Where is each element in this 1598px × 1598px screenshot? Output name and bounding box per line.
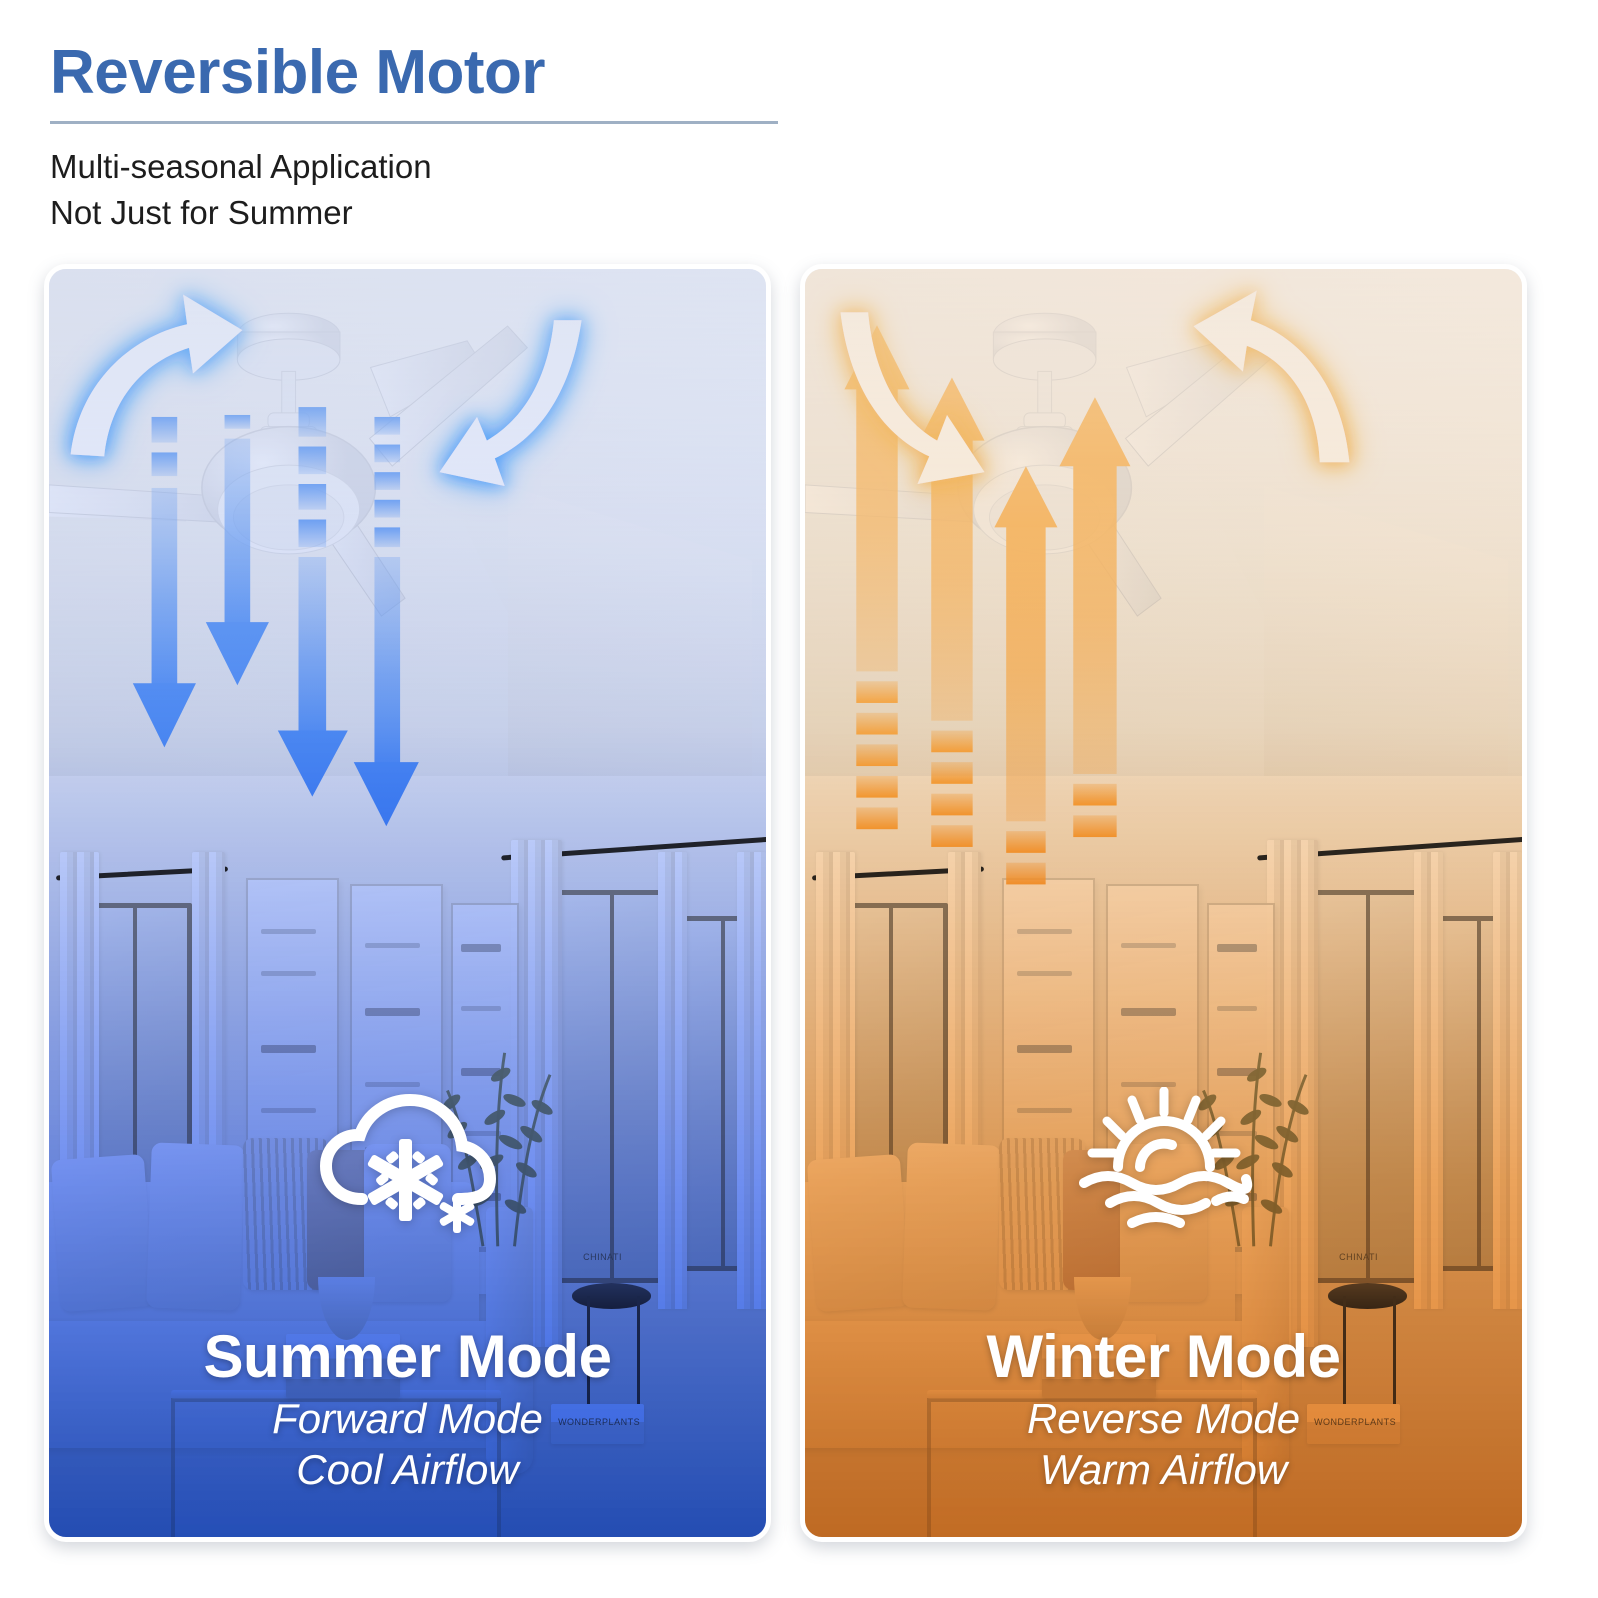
mode-title-winter: Winter Mode: [805, 1325, 1522, 1389]
mode-detail-2-summer: Cool Airflow: [49, 1444, 766, 1495]
sunrise-icon: [1074, 1087, 1254, 1237]
summer-captions: Summer Mode Forward Mode Cool Airflow: [49, 1325, 766, 1495]
water-waves: [1084, 1176, 1247, 1223]
room-scene-winter: CHINATI WONDERPLANTS: [805, 269, 1522, 1537]
sun-arc-inner: [1140, 1143, 1172, 1166]
subtitle: Multi-seasonal Application Not Just for …: [50, 144, 790, 235]
mode-title-summer: Summer Mode: [49, 1325, 766, 1389]
mode-detail-1-summer: Forward Mode: [49, 1393, 766, 1444]
mode-detail-1-winter: Reverse Mode: [805, 1393, 1522, 1444]
winter-captions: Winter Mode Reverse Mode Warm Airflow: [805, 1325, 1522, 1495]
snowflake-large: [366, 1139, 444, 1221]
subtitle-line-2: Not Just for Summer: [50, 190, 790, 236]
mode-panels: CHINATI WONDERPLANTS: [0, 264, 1598, 1544]
page-title: Reversible Motor: [50, 40, 790, 105]
infographic-page: Reversible Motor Multi-seasonal Applicat…: [0, 0, 1598, 1598]
title-divider: [50, 121, 778, 124]
panel-summer-mode[interactable]: CHINATI WONDERPLANTS: [44, 264, 771, 1542]
room-scene-summer: CHINATI WONDERPLANTS: [49, 269, 766, 1537]
mode-detail-2-winter: Warm Airflow: [805, 1444, 1522, 1495]
panel-winter-mode[interactable]: CHINATI WONDERPLANTS: [800, 264, 1527, 1542]
header: Reversible Motor Multi-seasonal Applicat…: [50, 40, 790, 235]
snow-cloud-icon: [318, 1087, 498, 1237]
subtitle-line-1: Multi-seasonal Application: [50, 144, 790, 190]
